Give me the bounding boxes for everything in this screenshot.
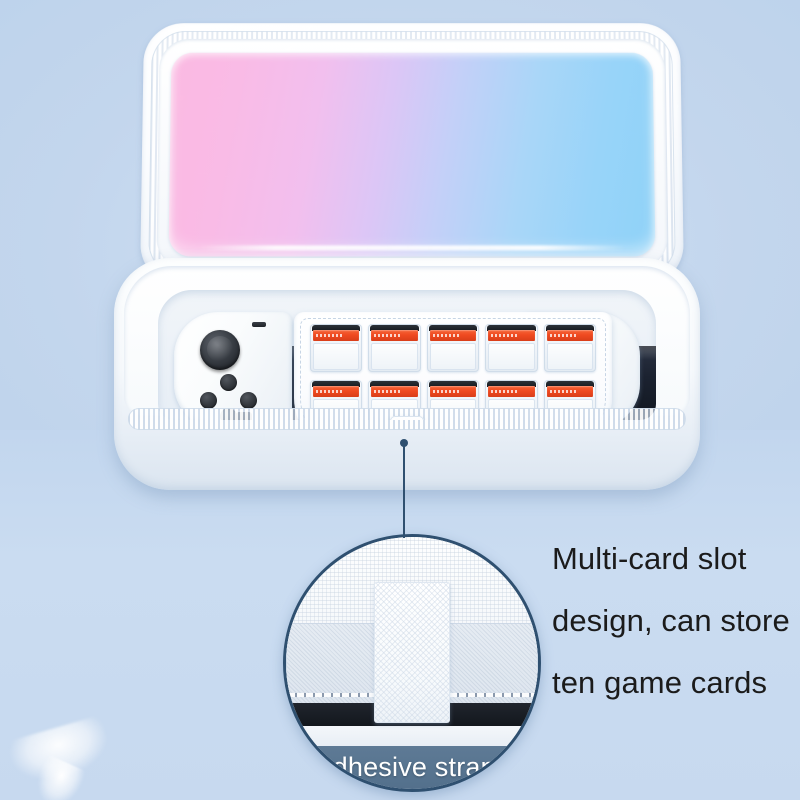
case-interior-cavity: X A Y B: [158, 290, 656, 420]
card-body: [371, 343, 417, 370]
adhesive-strap-center: [390, 416, 424, 420]
callout-label-text: Adhesive straps: [314, 752, 509, 783]
joycon-left-analog-stick: [200, 330, 240, 370]
carrying-case: X A Y B: [96, 8, 716, 508]
game-card: [368, 324, 420, 372]
game-card: [310, 324, 362, 372]
card-body: [547, 343, 593, 370]
game-card: [544, 324, 596, 372]
lid-interior-gradient-panel: [169, 53, 656, 257]
detail-zoom-circle: Adhesive straps: [283, 534, 541, 792]
callout-label-band: Adhesive straps: [286, 746, 538, 789]
card-slot-row-top: [310, 324, 596, 372]
zoom-velcro-strap: [374, 582, 450, 723]
card-holder-flap: [294, 312, 612, 420]
zoom-pad-left: [286, 623, 377, 714]
card-body: [488, 343, 534, 370]
card-label: [488, 330, 534, 341]
case-base-shell: X A Y B: [114, 258, 700, 490]
dpad-left-button: [200, 392, 217, 409]
callout-leader-line: [403, 446, 405, 538]
joycon-left: [174, 312, 292, 420]
case-base-lip: X A Y B: [124, 266, 690, 416]
joycon-left-minus-icon: [252, 322, 266, 327]
card-label: [313, 330, 359, 341]
zoom-pad-right: [447, 623, 538, 714]
dpad-up-button: [220, 374, 237, 391]
card-body: [430, 343, 476, 370]
case-lid: [140, 23, 684, 285]
zoom-white-edge: [286, 726, 538, 746]
game-card: [427, 324, 479, 372]
dpad-right-button: [240, 392, 257, 409]
card-label: [371, 386, 417, 397]
card-label: [488, 386, 534, 397]
card-label: [430, 386, 476, 397]
card-label: [430, 330, 476, 341]
card-label: [371, 330, 417, 341]
marketing-caption: Multi-card slot design, can store ten ga…: [552, 528, 800, 714]
product-image-scene: X A Y B: [0, 0, 800, 800]
card-label: [547, 330, 593, 341]
game-card: [485, 324, 537, 372]
card-label: [313, 386, 359, 397]
callout-anchor-dot: [400, 439, 408, 447]
card-label: [547, 386, 593, 397]
card-body: [313, 343, 359, 370]
